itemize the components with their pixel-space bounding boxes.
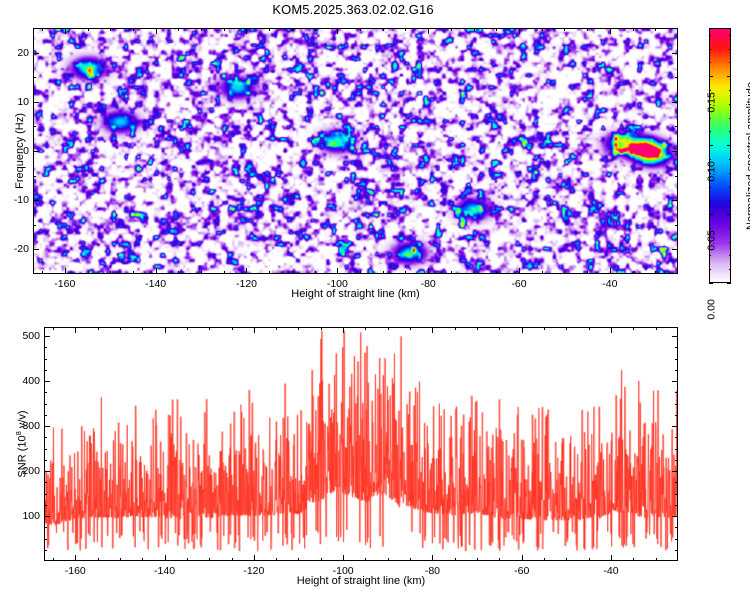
y-tick-major-right [672,471,678,472]
colorbar-tick-minor [709,200,711,201]
colorbar-tick-minor [709,187,711,188]
colorbar-tick-minor-right [729,187,731,188]
x-tick-minor-top [405,28,406,31]
x-tick-minor-top [224,28,225,31]
x-tick-minor-top [360,28,361,31]
x-tick-minor-top [474,28,475,31]
x-tick-minor-top [477,327,478,330]
x-tick-major-top [65,28,66,34]
x-tick-minor [566,558,567,561]
x-tick-minor [292,271,293,274]
x-tick-minor-top [566,327,567,330]
x-tick-minor-top [655,28,656,31]
y-tick-minor-right [675,126,678,127]
x-tick-minor [209,558,210,561]
x-tick-minor [656,558,657,561]
y-tick-minor-right [675,505,678,506]
colorbar-tick-minor [709,90,711,91]
colorbar-tick-minor [709,131,711,132]
x-tick-minor [298,558,299,561]
x-tick-minor [187,558,188,561]
x-tick-major [428,268,429,274]
x-tick-major-top [156,28,157,34]
y-tick-minor-right [675,176,678,177]
x-tick-minor [110,271,111,274]
y-tick-minor [33,176,36,177]
y-tick-major-right [672,249,678,250]
y-tick-minor [44,550,47,551]
colorbar-tick-minor [709,255,711,256]
colorbar-tick-minor [709,35,711,36]
x-tick-minor-top [564,28,565,31]
x-tick-label: -40 [603,565,618,577]
x-tick-minor [178,271,179,274]
y-tick-major [44,336,50,337]
x-tick-minor [474,271,475,274]
x-tick-minor-top [187,327,188,330]
x-tick-minor-top [383,28,384,31]
colorbar-tick-right [727,214,731,215]
x-tick-label: -60 [514,565,529,577]
x-tick-minor-top [315,28,316,31]
x-tick-minor [383,271,384,274]
y-tick-minor [44,494,47,495]
x-tick-major-top [254,327,255,333]
x-tick-major-top [337,28,338,34]
colorbar-tick-minor-right [729,49,731,50]
x-tick-minor [589,558,590,561]
spectrogram-canvas [34,29,677,273]
y-tick-minor-right [675,539,678,540]
colorbar-title: Normalized spectral amplitude [745,82,750,230]
x-tick-major-top [246,28,247,34]
snr-canvas [45,328,677,560]
x-tick-minor [53,558,54,561]
y-tick-minor-right [675,460,678,461]
colorbar-tick-minor [709,269,711,270]
y-tick-minor-right [675,77,678,78]
y-tick-major [33,151,39,152]
x-tick-minor-top [133,28,134,31]
x-tick-major [610,268,611,274]
colorbar-tick [709,76,713,77]
y-tick-minor-right [675,449,678,450]
x-tick-minor-top [98,327,99,330]
colorbar-tick [709,145,713,146]
x-tick-minor [232,558,233,561]
y-tick-minor [44,437,47,438]
y-tick-major-right [672,381,678,382]
x-tick-major-top [611,327,612,333]
x-tick-minor [88,271,89,274]
x-tick-minor [321,558,322,561]
x-tick-label: -80 [425,565,440,577]
y-tick-major [33,200,39,201]
x-tick-minor [276,558,277,561]
x-tick-minor-top [542,28,543,31]
colorbar-tick-right [727,145,731,146]
x-tick-label: -160 [54,278,75,290]
y-tick-minor [44,460,47,461]
y-tick-minor-right [675,404,678,405]
x-tick-major [246,268,247,274]
x-tick-label: -120 [243,565,264,577]
x-tick-minor [455,558,456,561]
y-tick-minor-right [675,370,678,371]
x-tick-minor-top [120,327,121,330]
x-tick-minor [655,271,656,274]
y-tick-label: 100 [10,510,40,522]
x-tick-minor-top [88,28,89,31]
x-tick-minor [142,558,143,561]
x-tick-minor [496,271,497,274]
y-tick-label: 500 [10,330,40,342]
x-tick-major [65,268,66,274]
x-tick-minor-top [110,28,111,31]
x-tick-minor-top [292,28,293,31]
colorbar-tick-minor [709,228,711,229]
x-tick-minor-top [451,28,452,31]
colorbar-tick-minor [709,159,711,160]
y-tick-major [44,426,50,427]
x-tick-label: -40 [602,278,617,290]
y-tick-minor [44,359,47,360]
x-tick-minor-top [499,327,500,330]
y-tick-minor [44,527,47,528]
y-tick-major-right [672,516,678,517]
y-axis-title-exponent: 8 [14,431,23,435]
x-tick-minor-top [201,28,202,31]
x-tick-minor [360,271,361,274]
x-tick-major [611,555,612,561]
colorbar-tick-minor [709,118,711,119]
x-tick-minor-top [633,327,634,330]
x-tick-major-top [519,28,520,34]
x-tick-minor-top [587,28,588,31]
x-tick-minor [315,271,316,274]
x-tick-major [75,555,76,561]
snr-plot-area [44,327,678,561]
page-title: KOM5.2025.363.02.02.G16 [0,2,706,17]
x-tick-major-top [432,327,433,333]
y-tick-major-right [672,200,678,201]
y-tick-minor-right [675,527,678,528]
colorbar-tick-minor-right [729,269,731,270]
y-tick-minor-right [675,415,678,416]
x-tick-label: -160 [65,565,86,577]
x-tick-label: -140 [145,278,166,290]
x-tick-major-top [522,327,523,333]
y-tick-major-right [672,151,678,152]
figure-root: KOM5.2025.363.02.02.G16 -160-140-120-100… [0,0,750,600]
y-tick-major [33,102,39,103]
x-tick-minor-top [232,327,233,330]
x-tick-major [519,268,520,274]
x-tick-label: -80 [421,278,436,290]
y-axis-title: Frequency (Hz) [14,113,26,189]
y-tick-minor [44,505,47,506]
y-tick-label: 20 [0,47,29,59]
x-tick-minor-top [298,327,299,330]
x-tick-major-top [343,327,344,333]
x-tick-minor-top [209,327,210,330]
x-tick-minor-top [633,28,634,31]
x-tick-major-top [165,327,166,333]
colorbar-tick-minor-right [729,131,731,132]
y-tick-minor [33,77,36,78]
x-tick-minor [477,558,478,561]
x-tick-major-top [428,28,429,34]
colorbar-tick-minor-right [729,242,731,243]
colorbar-tick-minor-right [729,35,731,36]
x-tick-minor-top [269,28,270,31]
x-tick-label: -140 [154,565,175,577]
y-tick-major-right [672,336,678,337]
y-tick-minor [44,370,47,371]
colorbar-tick-label: 0.00 [705,299,717,319]
colorbar-tick-label: 0.05 [705,230,717,250]
x-tick-minor [388,558,389,561]
x-tick-major-top [610,28,611,34]
y-tick-minor-right [675,359,678,360]
colorbar-tick-minor-right [729,104,731,105]
colorbar-tick-minor-right [729,90,731,91]
y-tick-minor-right [675,494,678,495]
x-tick-minor-top [276,327,277,330]
x-tick-minor [410,558,411,561]
x-tick-minor-top [365,327,366,330]
y-tick-minor-right [675,437,678,438]
x-tick-minor [633,271,634,274]
colorbar-tick-right [727,283,731,284]
colorbar-tick-minor-right [729,255,731,256]
x-tick-minor [633,558,634,561]
x-tick-minor [564,271,565,274]
x-tick-major [337,268,338,274]
x-tick-major [254,555,255,561]
y-tick-minor [33,126,36,127]
y-tick-minor-right [675,347,678,348]
y-tick-label: -10 [0,194,29,206]
colorbar-tick-minor [709,242,711,243]
x-tick-label: -60 [511,278,526,290]
x-tick-minor [451,271,452,274]
y-tick-label: 400 [10,375,40,387]
y-tick-minor [33,225,36,226]
x-tick-minor-top [53,327,54,330]
colorbar-tick-minor-right [729,173,731,174]
y-tick-label: -20 [0,243,29,255]
x-tick-minor [544,558,545,561]
y-tick-minor [44,449,47,450]
x-tick-minor-top [410,327,411,330]
colorbar-tick [709,283,713,284]
x-tick-minor [224,271,225,274]
y-tick-minor-right [675,482,678,483]
y-tick-major-right [672,426,678,427]
spectrogram-plot-area [33,28,678,274]
y-tick-major [44,381,50,382]
x-tick-minor [120,558,121,561]
x-tick-minor-top [589,327,590,330]
x-tick-minor-top [496,28,497,31]
colorbar-tick-minor [709,104,711,105]
x-tick-major [432,555,433,561]
x-tick-minor-top [142,327,143,330]
x-tick-minor [365,558,366,561]
x-tick-minor-top [42,28,43,31]
x-tick-minor-top [321,327,322,330]
x-tick-minor [499,558,500,561]
x-tick-label: -120 [236,278,257,290]
y-tick-minor [44,539,47,540]
x-tick-major-top [75,327,76,333]
x-axis-title: Height of straight line (km) [297,575,425,587]
y-tick-minor-right [675,225,678,226]
y-tick-label: 10 [0,96,29,108]
x-tick-major [343,555,344,561]
x-tick-minor-top [178,28,179,31]
x-tick-major [522,555,523,561]
y-axis-title: SNR (108 v/v) [14,410,29,477]
x-tick-major [156,268,157,274]
x-tick-minor-top [388,327,389,330]
y-tick-minor-right [675,392,678,393]
colorbar-tick-minor [709,173,711,174]
colorbar-tick-minor [709,49,711,50]
colorbar-tick-minor-right [729,62,731,63]
y-tick-minor [44,482,47,483]
y-tick-major [33,53,39,54]
x-tick-minor-top [656,327,657,330]
y-tick-major-right [672,53,678,54]
y-tick-major-right [672,102,678,103]
colorbar-tick [709,214,713,215]
colorbar-tick-minor-right [729,200,731,201]
x-tick-minor [201,271,202,274]
y-tick-minor [44,415,47,416]
y-tick-major [33,249,39,250]
y-tick-major [44,471,50,472]
colorbar-tick-minor-right [729,159,731,160]
colorbar-tick-minor [709,62,711,63]
x-tick-minor [98,558,99,561]
x-tick-minor [587,271,588,274]
x-tick-minor [133,271,134,274]
x-axis-title: Height of straight line (km) [291,288,419,300]
x-tick-minor-top [455,327,456,330]
colorbar-tick-label: 0.15 [705,92,717,112]
x-tick-major [165,555,166,561]
x-tick-minor [542,271,543,274]
colorbar-tick-right [727,76,731,77]
y-tick-minor [44,347,47,348]
colorbar-tick-label: 0.10 [705,161,717,181]
y-tick-minor-right [675,550,678,551]
x-tick-minor [269,271,270,274]
x-tick-minor [42,271,43,274]
x-tick-minor-top [544,327,545,330]
colorbar-tick-minor-right [729,118,731,119]
x-tick-minor [405,271,406,274]
y-tick-minor [44,404,47,405]
colorbar-tick-minor-right [729,228,731,229]
y-tick-minor [44,392,47,393]
y-tick-major [44,516,50,517]
